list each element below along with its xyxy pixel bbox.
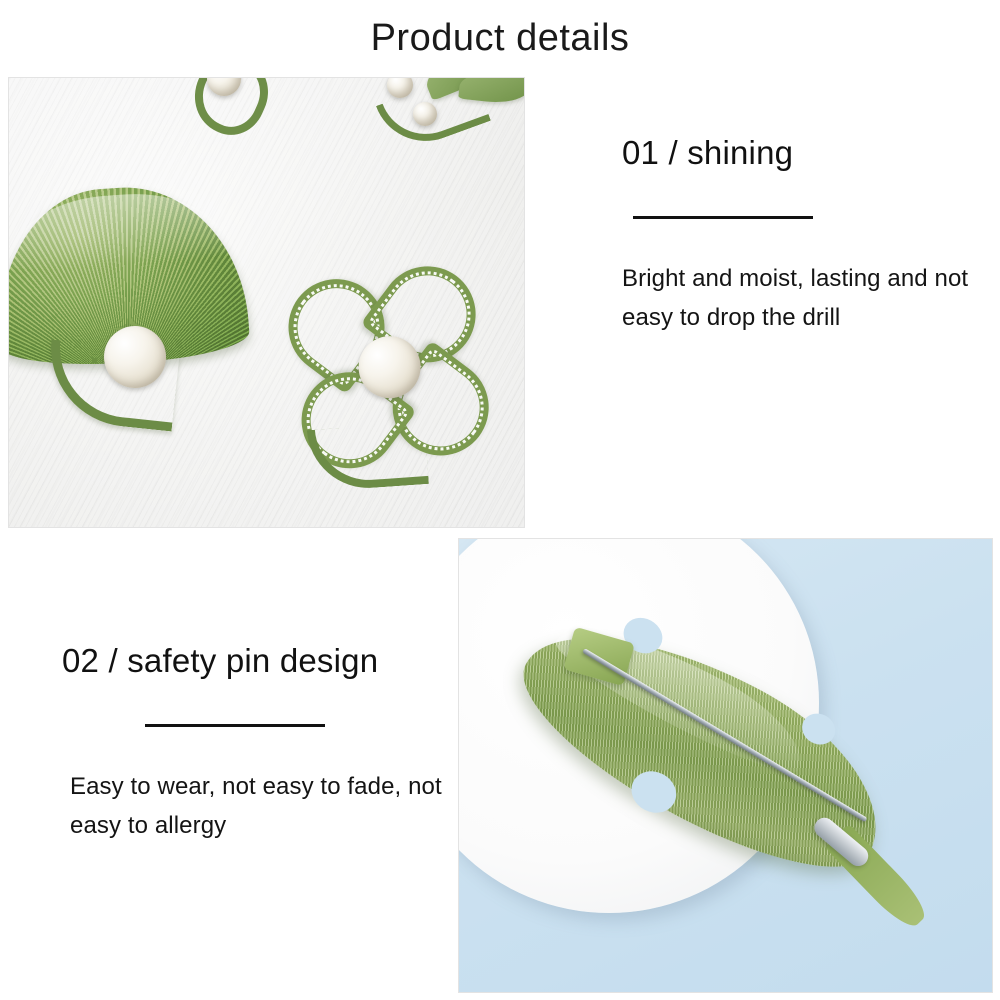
section-heading-01: 01 / shining	[622, 132, 982, 174]
section-body-01: Bright and moist, lasting and not easy t…	[622, 259, 982, 337]
section-divider-02	[145, 724, 325, 727]
four-leaf-clover-brooch	[278, 257, 504, 483]
section-divider-01	[633, 216, 813, 219]
pearl-accent	[104, 326, 166, 388]
ginkgo-and-clover-brooches-photo	[8, 77, 525, 528]
pearl-accent	[413, 102, 437, 126]
feature-block-safety-pin: 02 / safety pin design Easy to wear, not…	[62, 640, 462, 845]
feature-block-shining: 01 / shining Bright and moist, lasting a…	[622, 132, 982, 337]
page-title: Product details	[0, 16, 1000, 60]
product-details-page: Product details	[0, 0, 1000, 1000]
section-body-02: Easy to wear, not easy to fade, not easy…	[70, 767, 462, 845]
section-heading-02: 02 / safety pin design	[62, 640, 462, 682]
leaf-brooch-safety-pin-photo	[458, 538, 993, 993]
